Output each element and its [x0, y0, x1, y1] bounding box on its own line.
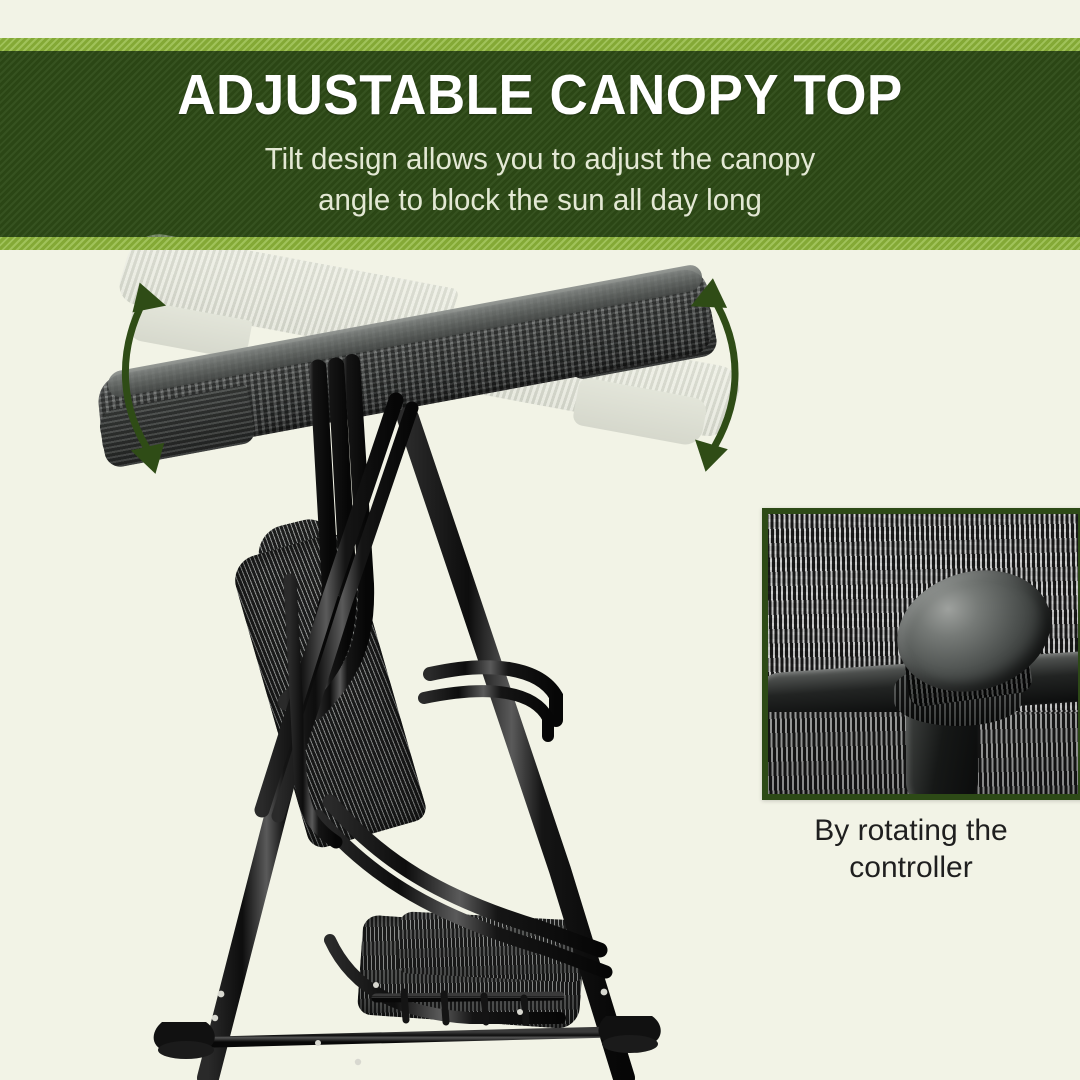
frame-bottom-crossbar — [214, 1032, 614, 1042]
banner-text-block: ADJUSTABLE CANOPY TOP Tilt design allows… — [0, 38, 1080, 220]
page-title: ADJUSTABLE CANOPY TOP — [38, 64, 1042, 126]
product-infographic: ADJUSTABLE CANOPY TOP Tilt design allows… — [0, 0, 1080, 1080]
seat-armrest-lower — [424, 691, 548, 736]
banner-top-accent-rule — [0, 38, 1080, 51]
banner-bottom-accent-rule — [0, 237, 1080, 250]
inset-caption-line-2: controller — [742, 849, 1080, 886]
frame-front-leg — [408, 418, 624, 1078]
banner-subtitle-line-2: angle to block the sun all day long — [27, 179, 1053, 220]
banner-subtitle-line-1: Tilt design allows you to adjust the can… — [27, 138, 1053, 179]
detail-inset-panel — [762, 508, 1080, 800]
inset-caption: By rotating the controller — [742, 812, 1080, 886]
headline-banner: ADJUSTABLE CANOPY TOP Tilt design allows… — [0, 38, 1080, 250]
inset-caption-line-1: By rotating the — [742, 812, 1080, 849]
banner-subtitle: Tilt design allows you to adjust the can… — [27, 138, 1053, 220]
